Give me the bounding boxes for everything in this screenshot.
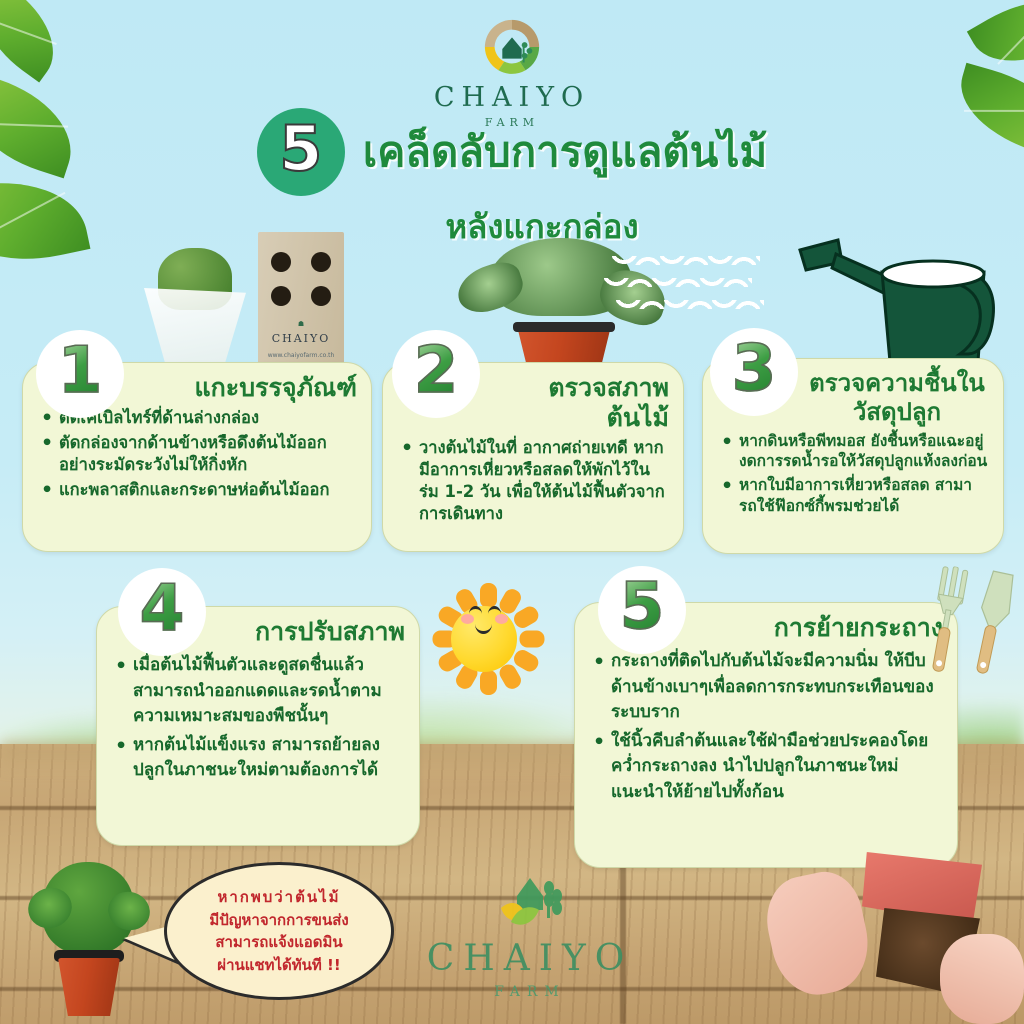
headline-number: 5 (279, 118, 322, 186)
bullet-item: เมื่อต้นไม้ฟื้นตัวและดูสดชื่นแล้ว สามารถ… (113, 653, 405, 730)
card-number-badge-5: 5 (598, 566, 686, 654)
card-number-badge-2: 2 (392, 330, 480, 418)
callout-line: มีปัญหาจากการขนส่ง (209, 909, 348, 932)
hands-repotting-photo (770, 846, 1024, 1024)
card-bullets-2: วางต้นไม้ในที่ อากาศถ่ายเทดี หากมีอาการเ… (399, 437, 669, 525)
card-number-1: 1 (58, 339, 103, 409)
card-number-badge-3: 3 (710, 328, 798, 416)
farm-emblem-icon (491, 866, 569, 938)
bullet-item: ตัดกล่องจากด้านข้างหรือดึงต้นไม้ออกอย่าง… (39, 432, 357, 476)
card-number-5: 5 (620, 575, 665, 645)
card-bullets-3: หากดินหรือพีทมอส ยังชื้นหรือแฉะอยู่ งดกา… (719, 431, 989, 517)
card-bullets-4: เมื่อต้นไม้ฟื้นตัวและดูสดชื่นแล้ว สามารถ… (113, 653, 405, 784)
card-number-2: 2 (414, 339, 459, 409)
shipping-box-photo: ☗ CHAIYO www.chaiyofarm.co.th (258, 232, 344, 372)
callout-speech-bubble: หากพบว่าต้นไม้ มีปัญหาจากการขนส่ง สามารถ… (164, 862, 394, 1000)
farm-emblem-icon (481, 16, 543, 78)
bullet-item: แกะพลาสติกและกระดาษห่อต้นไม้ออก (39, 479, 357, 501)
wind-lines-icon (612, 256, 760, 322)
callout-text: หากพบว่าต้นไม้ มีปัญหาจากการขนส่ง สามารถ… (209, 886, 348, 976)
infographic-canvas: CHAIYO FARM 5 เคล็ดลับการดูแลต้นไม้ หลัง… (0, 0, 1024, 1024)
card-bullets-1: ตัดเคเบิลไทร์ที่ด้านล่างกล่อง ตัดกล่องจา… (39, 407, 357, 501)
bullet-item: วางต้นไม้ในที่ อากาศถ่ายเทดี หากมีอาการเ… (399, 437, 669, 525)
bullet-item: หากต้นไม้แข็งแรง สามารถย้ายลงปลูกในภาชนะ… (113, 733, 405, 784)
card-bullets-5: กระถางที่ติดไปกับต้นไม้จะมีความนิ่ม ให้บ… (591, 649, 943, 805)
callout-line: หากพบว่าต้นไม้ (209, 886, 348, 909)
headline-line-1: เคล็ดลับการดูแลต้นไม้ (363, 128, 767, 175)
smiling-sun-icon (425, 580, 543, 698)
box-website-label: www.chaiyofarm.co.th (258, 352, 344, 359)
bullet-item: ใช้นิ้วคีบลำต้นและใช้ฝ่ามือช่วยประคองโดย… (591, 729, 943, 806)
card-number-4: 4 (140, 577, 185, 647)
wrapped-plant-photo (140, 248, 250, 368)
bullet-item: กระถางที่ติดไปกับต้นไม้จะมีความนิ่ม ให้บ… (591, 649, 943, 726)
watering-can-icon (786, 228, 1016, 373)
headline-number-badge: 5 (257, 108, 345, 196)
callout-line: ผ่านแชทได้ทันที !! (209, 954, 348, 977)
brand-name-footer: CHAIYO (420, 938, 640, 979)
brand-logo-footer: CHAIYO FARM (420, 866, 640, 1000)
bullet-item: หากดินหรือพีทมอส ยังชื้นหรือแฉะอยู่ งดกา… (719, 431, 989, 473)
brand-tagline-footer: FARM (420, 984, 640, 1000)
box-brand-label: CHAIYO (258, 332, 344, 345)
bullet-item: หากใบมีอาการเหี่ยวหรือสลด สามารถใช้ฟ๊อกซ… (719, 475, 989, 517)
card-number-badge-4: 4 (118, 568, 206, 656)
card-number-badge-1: 1 (36, 330, 124, 418)
card-number-3: 3 (732, 337, 777, 407)
callout-line: สามารถแจ้งแอดมิน (209, 931, 348, 954)
